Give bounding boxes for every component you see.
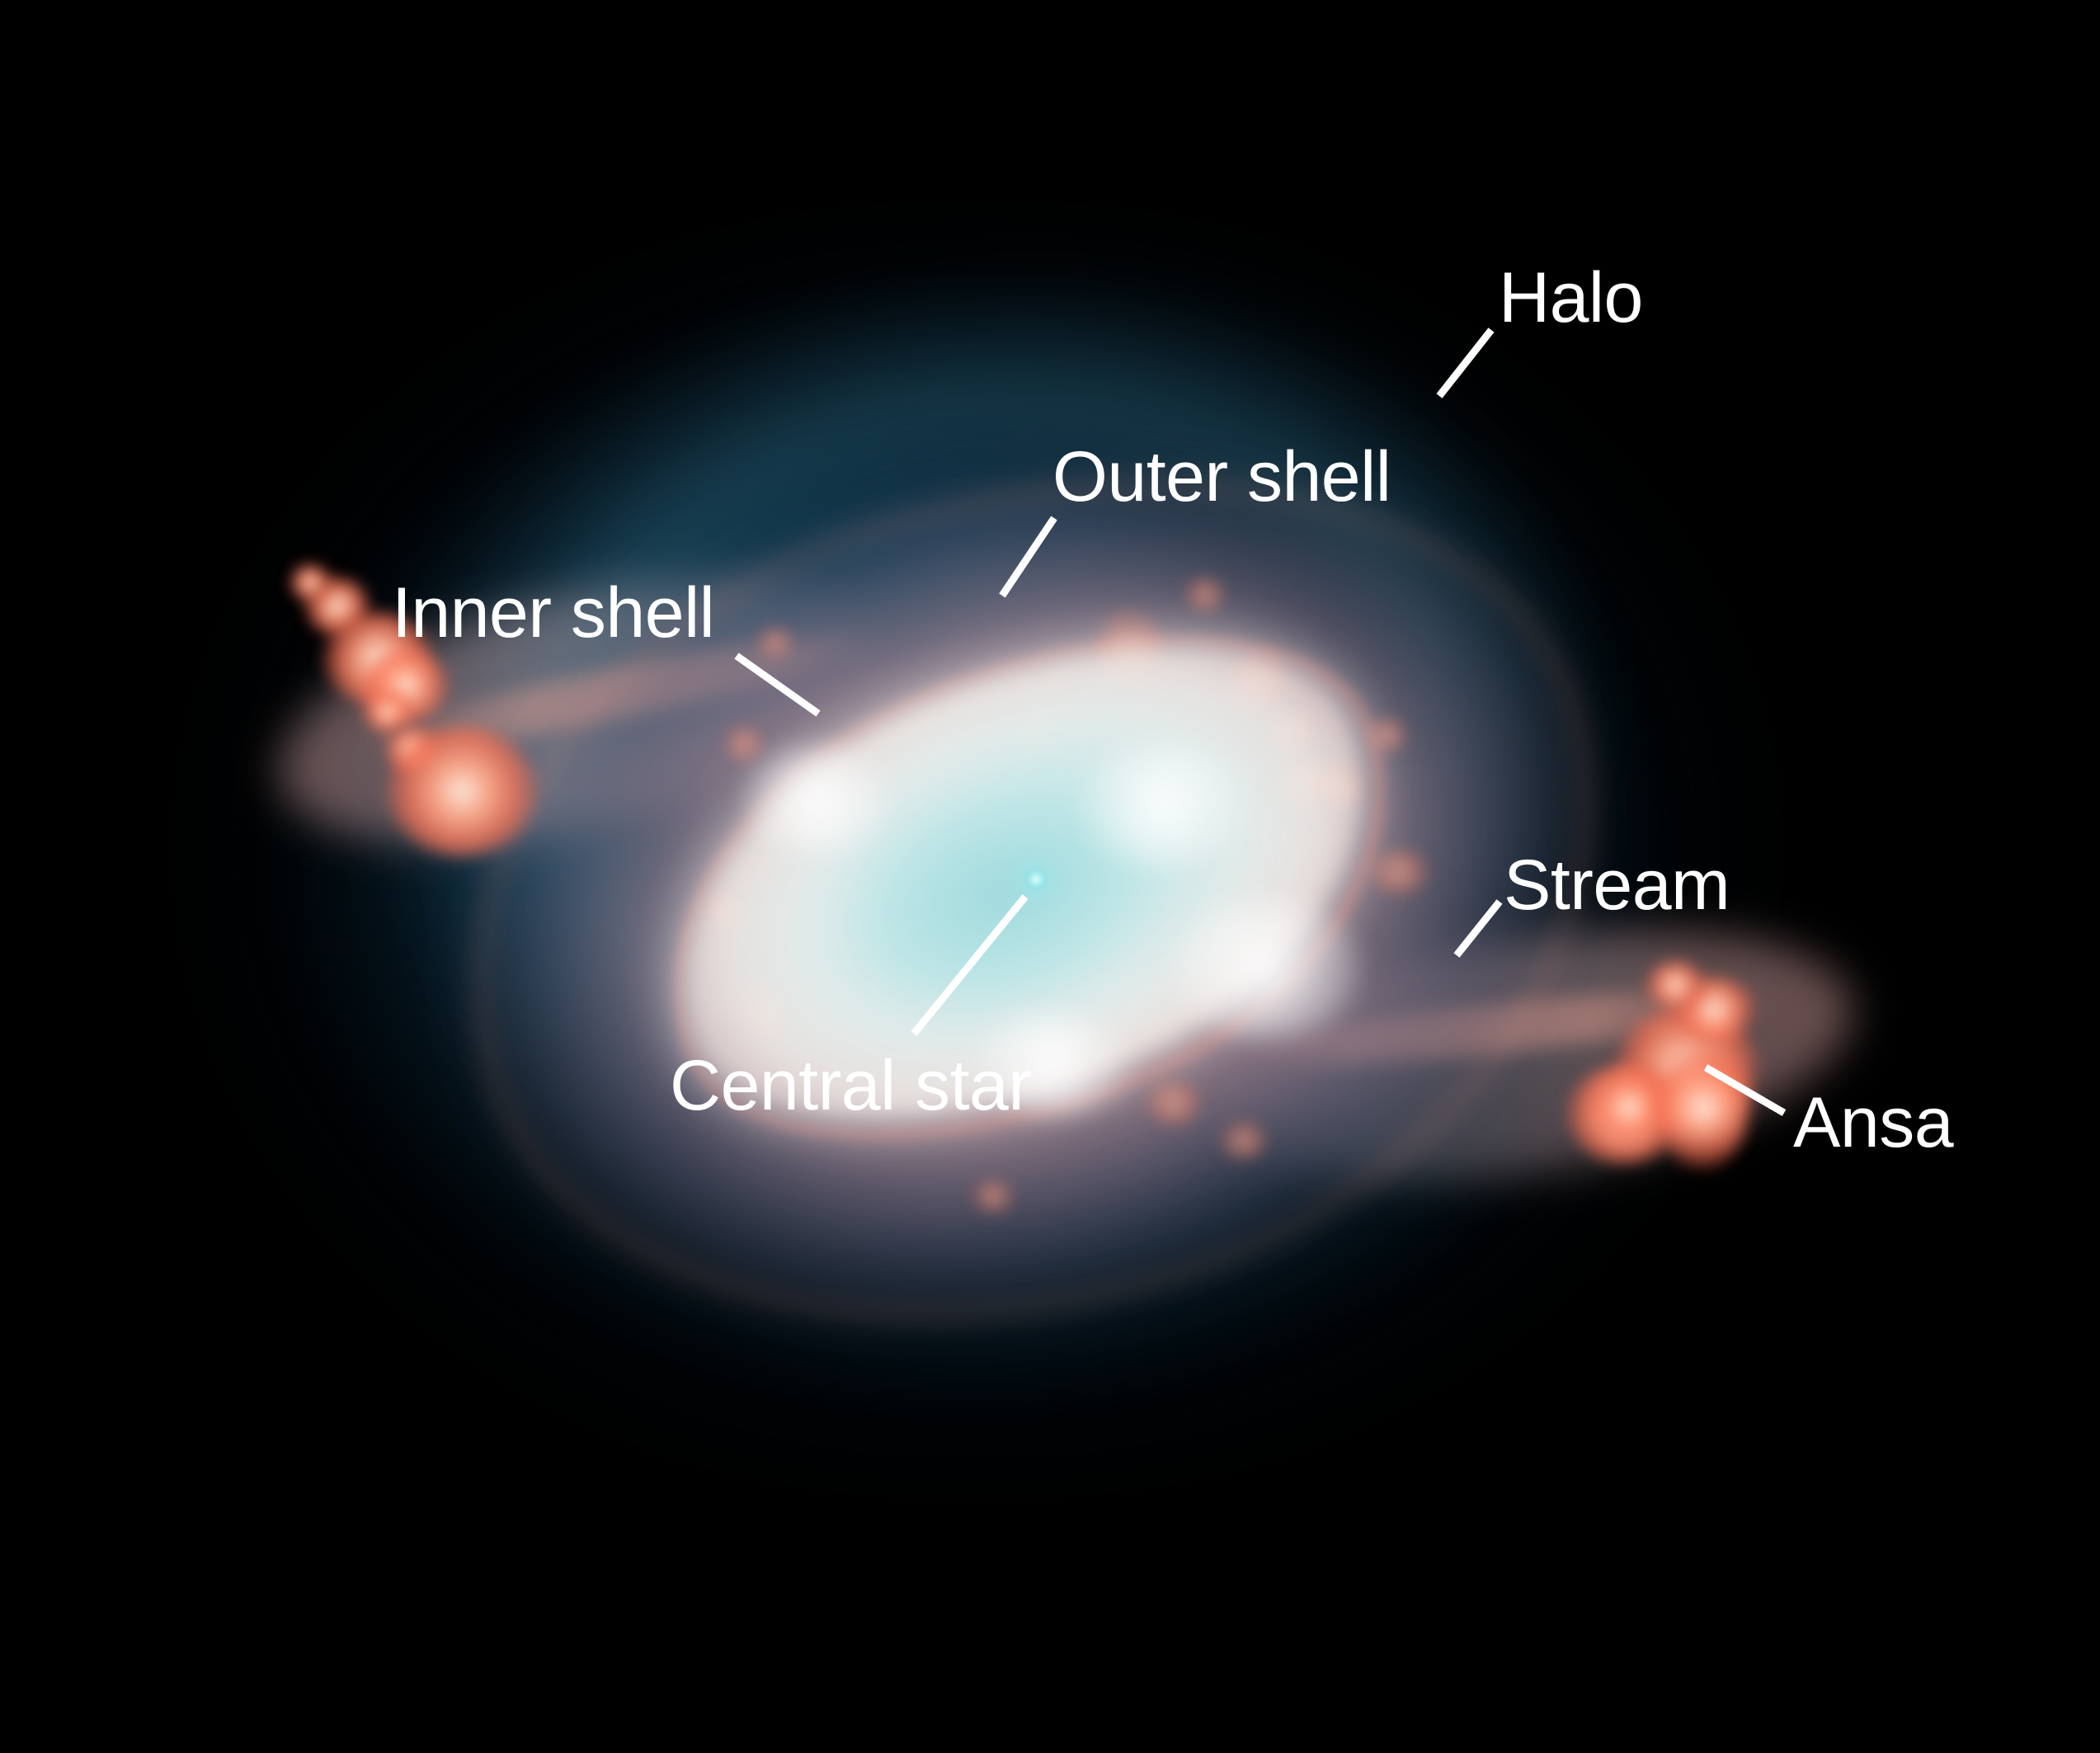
leader-outer-shell [1002, 518, 1054, 596]
leader-ansa [1706, 1067, 1784, 1113]
leader-lines [0, 0, 2100, 1753]
label-halo: Halo [1499, 262, 1643, 333]
label-stream: Stream [1504, 850, 1730, 921]
annotation-layer: Halo Outer shell Inner shell Central sta… [0, 0, 2100, 1753]
label-central-star: Central star [670, 1050, 1032, 1121]
label-outer-shell: Outer shell [1052, 441, 1391, 512]
label-inner-shell: Inner shell [392, 577, 714, 648]
label-ansa: Ansa [1793, 1087, 1953, 1158]
leader-central-star [914, 897, 1025, 1034]
leader-halo [1439, 330, 1491, 396]
leader-inner-shell [737, 656, 818, 714]
nebula-image: Halo Outer shell Inner shell Central sta… [0, 0, 2100, 1753]
leader-stream [1457, 902, 1500, 955]
